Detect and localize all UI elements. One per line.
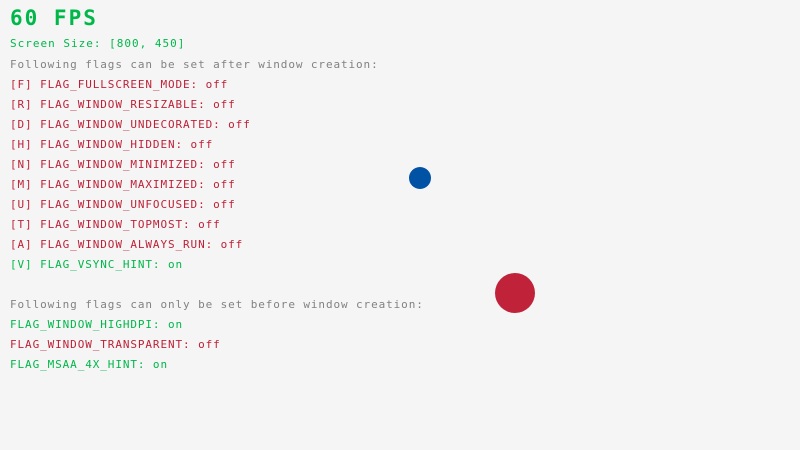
flag-row-flag-msaa-4x-hint[interactable]: FLAG_MSAA_4X_HINT: on [10,359,221,379]
flag-row-flag-window-topmost[interactable]: [T] FLAG_WINDOW_TOPMOST: off [10,219,251,239]
flag-label: [A] FLAG_WINDOW_ALWAYS_RUN: off [10,238,243,251]
small-blue-circle [409,167,431,189]
flag-list-before-creation: FLAG_WINDOW_HIGHDPI: onFLAG_WINDOW_TRANS… [10,319,221,379]
screen-size-label: Screen Size: [800, 450] [10,38,185,49]
fps-counter: 60 FPS [10,8,98,29]
flag-row-flag-vsync-hint[interactable]: [V] FLAG_VSYNC_HINT: on [10,259,251,279]
flag-label: [V] FLAG_VSYNC_HINT: on [10,258,183,271]
flag-label: [U] FLAG_WINDOW_UNFOCUSED: off [10,198,236,211]
flag-label: [D] FLAG_WINDOW_UNDECORATED: off [10,118,251,131]
flag-row-flag-window-highdpi[interactable]: FLAG_WINDOW_HIGHDPI: on [10,319,221,339]
flag-label: [N] FLAG_WINDOW_MINIMIZED: off [10,158,236,171]
flag-label: [M] FLAG_WINDOW_MAXIMIZED: off [10,178,236,191]
section-heading-after-creation: Following flags can be set after window … [10,59,379,70]
section-heading-before-creation: Following flags can only be set before w… [10,299,424,310]
flag-label: FLAG_WINDOW_HIGHDPI: on [10,318,183,331]
flag-label: [R] FLAG_WINDOW_RESIZABLE: off [10,98,236,111]
flag-label: FLAG_MSAA_4X_HINT: on [10,358,168,371]
flag-row-flag-window-minimized[interactable]: [N] FLAG_WINDOW_MINIMIZED: off [10,159,251,179]
flag-row-flag-window-undecorated[interactable]: [D] FLAG_WINDOW_UNDECORATED: off [10,119,251,139]
flag-row-flag-window-always-run[interactable]: [A] FLAG_WINDOW_ALWAYS_RUN: off [10,239,251,259]
raylib-window-canvas: 60 FPS Screen Size: [800, 450] Following… [0,0,800,450]
flag-label: [F] FLAG_FULLSCREEN_MODE: off [10,78,228,91]
flag-label: [H] FLAG_WINDOW_HIDDEN: off [10,138,213,151]
flag-label: [T] FLAG_WINDOW_TOPMOST: off [10,218,221,231]
flag-row-flag-window-maximized[interactable]: [M] FLAG_WINDOW_MAXIMIZED: off [10,179,251,199]
flag-label: FLAG_WINDOW_TRANSPARENT: off [10,338,221,351]
flag-row-flag-window-hidden[interactable]: [H] FLAG_WINDOW_HIDDEN: off [10,139,251,159]
flag-row-flag-window-resizable[interactable]: [R] FLAG_WINDOW_RESIZABLE: off [10,99,251,119]
flag-row-flag-window-unfocused[interactable]: [U] FLAG_WINDOW_UNFOCUSED: off [10,199,251,219]
flag-row-flag-fullscreen-mode[interactable]: [F] FLAG_FULLSCREEN_MODE: off [10,79,251,99]
flag-row-flag-window-transparent[interactable]: FLAG_WINDOW_TRANSPARENT: off [10,339,221,359]
flag-list-after-creation: [F] FLAG_FULLSCREEN_MODE: off[R] FLAG_WI… [10,79,251,279]
large-maroon-circle [495,273,535,313]
